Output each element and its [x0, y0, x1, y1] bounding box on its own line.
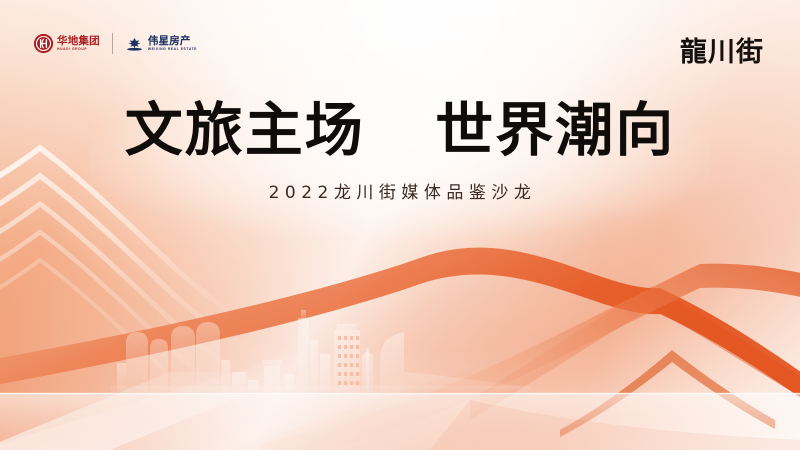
sponsor-logo-huadi-group[interactable]: 华地集团 HUADI GROUP: [34, 34, 100, 53]
event-backdrop-poster: 华地集团 HUADI GROUP 伟星房产 WEIXING REAL ESTAT…: [0, 0, 800, 450]
weixing-logo-en: WEIXING REAL ESTATE: [148, 48, 197, 52]
page-title: 文旅主场 世界潮向: [0, 96, 800, 164]
weixing-star-crown-icon: [125, 34, 144, 53]
page-title-part-2: 世界潮向: [435, 96, 675, 164]
huadi-logo-text: 华地集团 HUADI GROUP: [57, 36, 100, 52]
huadi-logo-en: HUADI GROUP: [57, 48, 100, 52]
weixing-logo-cn: 伟星房产: [148, 36, 197, 47]
sponsor-logo-cluster: 华地集团 HUADI GROUP 伟星房产 WEIXING REAL ESTAT…: [34, 33, 197, 54]
huadi-circle-monogram-icon: [34, 34, 53, 53]
hero-text-block: 文旅主场 世界潮向 2022龙川街媒体品鉴沙龙: [0, 96, 800, 203]
huadi-logo-cn: 华地集团: [57, 36, 100, 47]
logo-divider: [112, 33, 113, 54]
page-title-part-1: 文旅主场: [125, 96, 365, 164]
weixing-logo-text: 伟星房产 WEIXING REAL ESTATE: [148, 36, 197, 52]
poster-header: 华地集团 HUADI GROUP 伟星房产 WEIXING REAL ESTAT…: [0, 0, 800, 96]
page-subtitle: 2022龙川街媒体品鉴沙龙: [0, 178, 800, 203]
sponsor-logo-weixing-real-estate[interactable]: 伟星房产 WEIXING REAL ESTATE: [125, 34, 197, 53]
brand-wordmark[interactable]: 龍川街: [680, 30, 764, 69]
